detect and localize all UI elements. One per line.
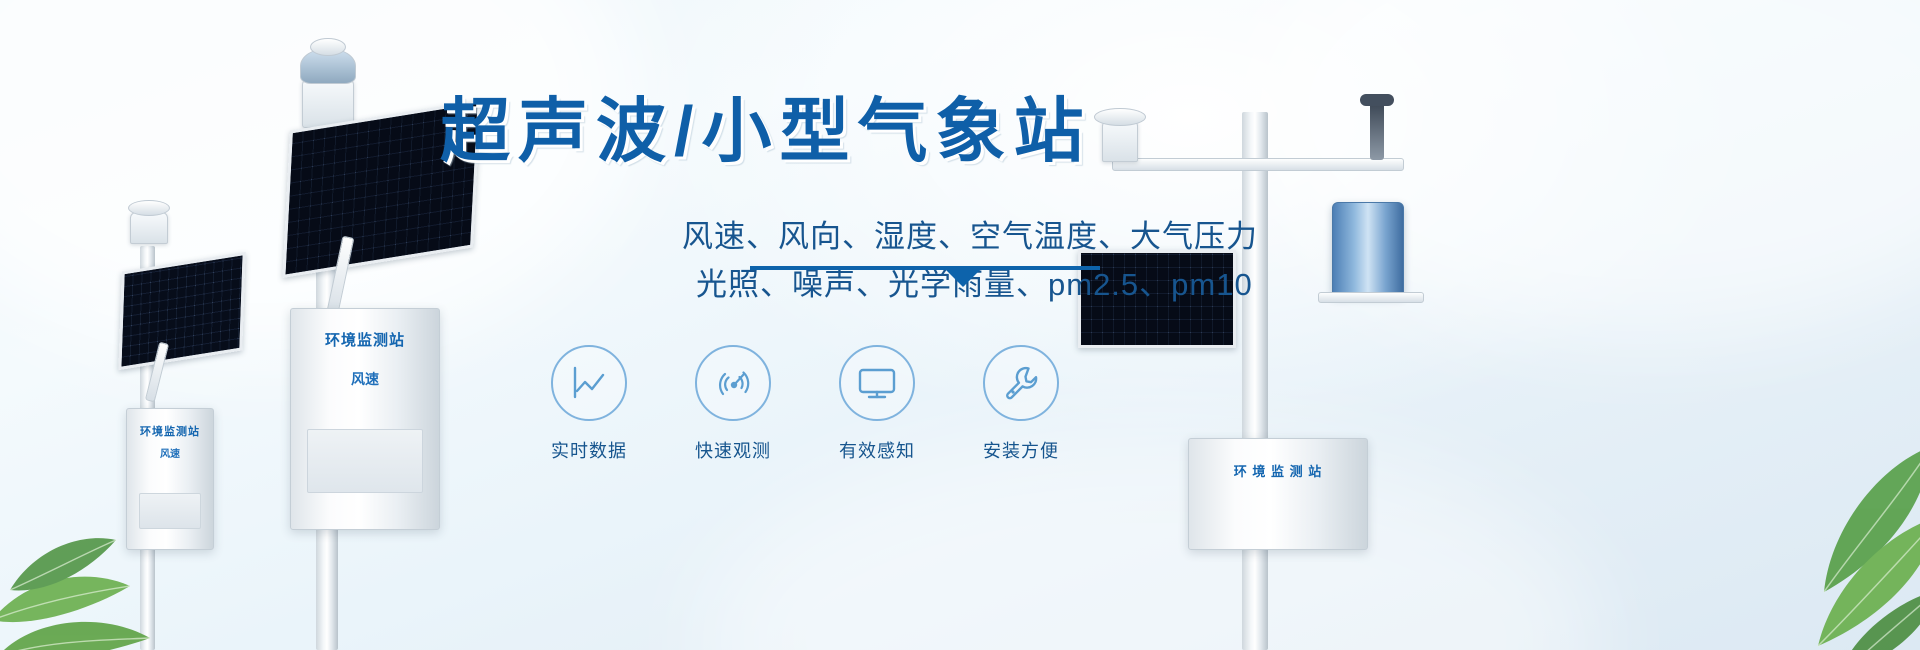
- ultrasonic-sensor-head: [130, 212, 168, 244]
- equipment-cabinet: 环境监测站 风速: [290, 308, 440, 530]
- promo-text-block: 超声波/小型气象站 风速、风向、湿度、空气温度、大气压力 光照、噪声、光学雨量、…: [440, 96, 1140, 309]
- mast-pole: [1242, 112, 1268, 650]
- page-title: 超声波/小型气象站: [440, 96, 1140, 166]
- feature-label: 安装方便: [983, 437, 1059, 463]
- cabinet-label: 环境监测站: [291, 329, 439, 350]
- leaf-decoration-right: [1610, 420, 1920, 650]
- sensor-top-disc: [128, 200, 170, 216]
- cabinet-brand: 风速: [127, 445, 213, 460]
- rain-gauge: [1332, 202, 1404, 296]
- feature-item-fast-observation[interactable]: 快速观测: [692, 345, 774, 463]
- monitor-screen-icon: [839, 345, 915, 421]
- title-divider: [750, 266, 1100, 270]
- cabinet-brand: 风速: [291, 369, 439, 389]
- cabinet-label: 环境监测站: [127, 423, 213, 439]
- line-chart-icon: [551, 345, 627, 421]
- equipment-cabinet: 环 境 监 测 站: [1188, 438, 1368, 550]
- sensor-cap: [310, 38, 346, 56]
- weather-station-promo-banner: 环境监测站 风速 环境监测站 风速 环 境 监 测 站: [0, 0, 1920, 650]
- leaf-icon: [1610, 420, 1920, 650]
- wind-vane-sensor: [1370, 102, 1384, 160]
- cabinet-door-panel: [307, 429, 423, 493]
- rain-gauge-shelf: [1318, 292, 1424, 303]
- feature-list: 实时数据 快速观测: [548, 345, 1062, 463]
- feature-item-realtime-data[interactable]: 实时数据: [548, 345, 630, 463]
- wrench-icon: [983, 345, 1059, 421]
- feature-label: 有效感知: [839, 437, 915, 463]
- solar-panel: [118, 252, 245, 370]
- feature-item-effective-sensing[interactable]: 有效感知: [836, 345, 918, 463]
- cabinet-label: 环 境 监 测 站: [1189, 461, 1367, 480]
- subtitle-line-1: 风速、风向、湿度、空气温度、大气压力: [682, 213, 1140, 261]
- feature-label: 快速观测: [695, 437, 771, 463]
- feature-item-easy-install[interactable]: 安装方便: [980, 345, 1062, 463]
- equipment-cabinet: 环境监测站 风速: [126, 408, 214, 550]
- feature-label: 实时数据: [551, 437, 627, 463]
- wind-vane-cup: [1360, 94, 1394, 106]
- radar-signal-icon: [695, 345, 771, 421]
- weather-station-left: 环境监测站 风速: [112, 190, 292, 650]
- crossbar-arm: [1112, 158, 1404, 171]
- cabinet-door-panel: [139, 493, 201, 529]
